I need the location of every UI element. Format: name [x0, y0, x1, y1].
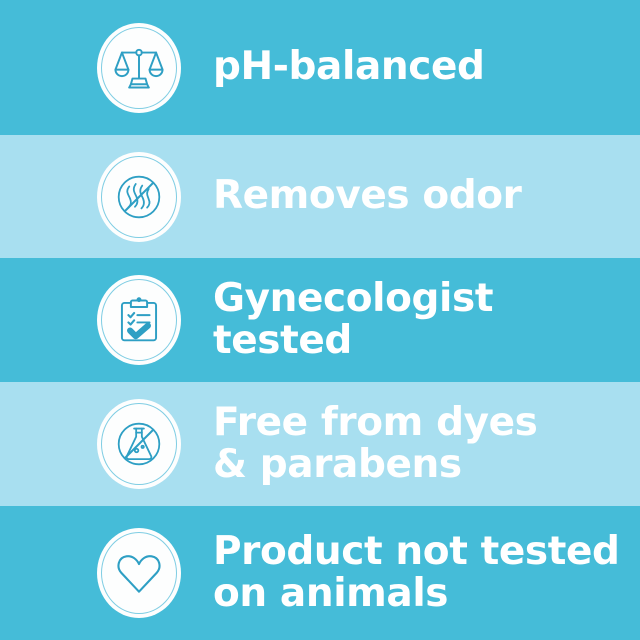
- benefit-row: pH-balanced: [0, 0, 640, 135]
- benefit-icon-badge: [97, 275, 181, 365]
- benefit-icon-badge: [97, 23, 181, 113]
- clipboard-check-icon: [113, 294, 165, 346]
- benefit-label: Free from dyes & parabens: [213, 402, 537, 486]
- benefits-panel: pH-balanced Removes odor: [0, 0, 640, 640]
- benefit-label: Gynecologist tested: [213, 278, 640, 362]
- benefit-label: Product not tested on animals: [213, 531, 620, 615]
- balance-scale-icon: [113, 42, 165, 94]
- heart-icon: [113, 547, 165, 599]
- benefit-icon-badge: [97, 399, 181, 489]
- benefit-label: Removes odor: [213, 175, 522, 217]
- benefit-row: Removes odor: [0, 135, 640, 258]
- no-flask-icon: [113, 418, 165, 470]
- benefit-row: Free from dyes & parabens: [0, 382, 640, 506]
- benefit-icon-badge: [97, 152, 181, 242]
- benefit-row: Gynecologist tested: [0, 258, 640, 382]
- benefit-row: Product not tested on animals: [0, 506, 640, 640]
- benefit-icon-badge: [97, 528, 181, 618]
- no-odor-icon: [113, 171, 165, 223]
- benefit-label: pH-balanced: [213, 46, 485, 88]
